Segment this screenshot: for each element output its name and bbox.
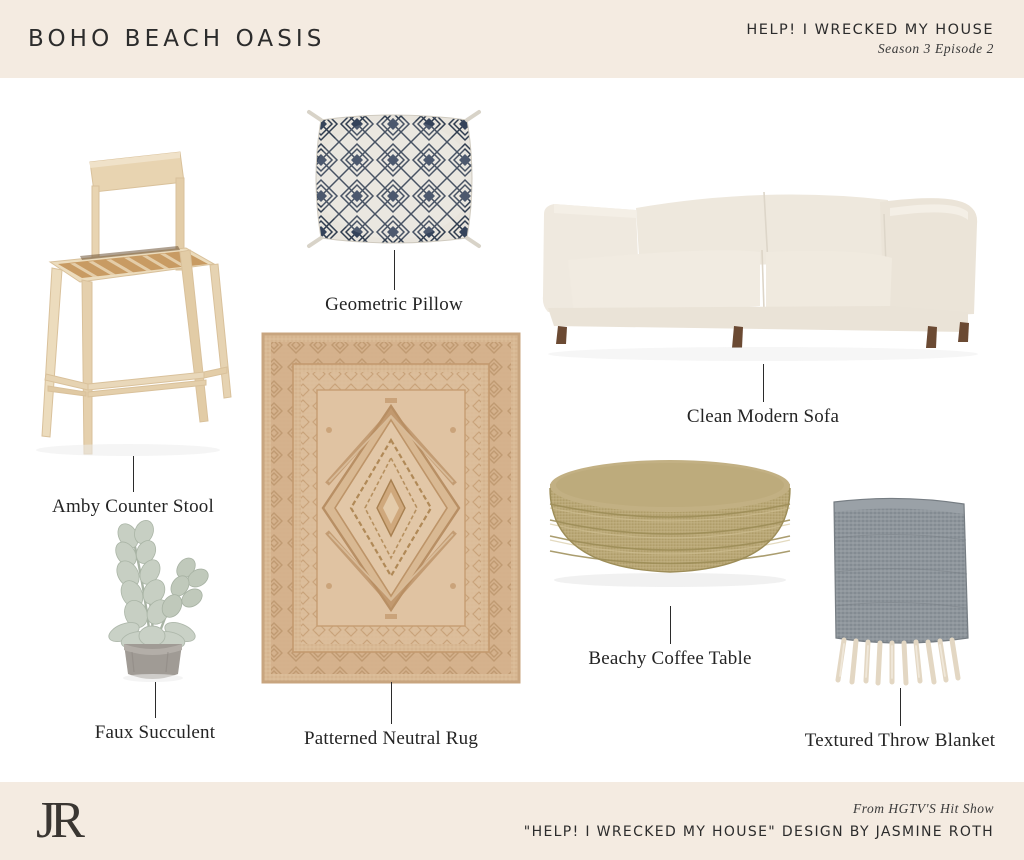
label-faux-succulent: Faux Succulent xyxy=(95,722,215,744)
leader-line-faux-succulent xyxy=(155,682,156,718)
leader-line-clean-modern-sofa xyxy=(763,364,764,402)
page-title: BOHO BEACH OASIS xyxy=(28,26,326,52)
board-footer: JR From HGTV'S Hit Show "HELP! I WRECKED… xyxy=(0,782,1024,860)
moodboard-canvas: Amby Counter Stool xyxy=(0,78,1024,782)
product-amby-counter-stool[interactable]: Amby Counter Stool xyxy=(28,136,238,456)
footer-from-line: From HGTV'S Hit Show xyxy=(524,799,994,819)
counter-stool-illustration xyxy=(28,136,238,456)
leader-line-patterned-neutral-rug xyxy=(391,682,392,724)
jr-monogram-logo: JR xyxy=(28,795,79,847)
label-clean-modern-sofa: Clean Modern Sofa xyxy=(687,406,839,428)
label-textured-throw-blanket: Textured Throw Blanket xyxy=(805,730,996,752)
rug-illustration xyxy=(263,334,519,682)
geometric-pillow-illustration xyxy=(303,106,485,254)
coffee-table-illustration xyxy=(536,456,804,608)
label-patterned-neutral-rug: Patterned Neutral Rug xyxy=(304,728,478,750)
footer-credit-line: "HELP! I WRECKED MY HOUSE" DESIGN BY JAS… xyxy=(524,822,994,843)
product-beachy-coffee-table[interactable]: Beachy Coffee Table xyxy=(536,456,804,608)
show-name: HELP! I WRECKED MY HOUSE xyxy=(746,21,994,39)
footer-credit-block: From HGTV'S Hit Show "HELP! I WRECKED MY… xyxy=(524,799,994,843)
product-geometric-pillow[interactable]: Geometric Pillow xyxy=(303,106,485,254)
sofa-illustration xyxy=(528,166,998,366)
product-faux-succulent[interactable]: Faux Succulent xyxy=(62,486,248,686)
label-beachy-coffee-table: Beachy Coffee Table xyxy=(588,648,751,670)
show-info: HELP! I WRECKED MY HOUSE Season 3 Episod… xyxy=(746,21,994,58)
throw-blanket-illustration xyxy=(806,490,994,698)
product-clean-modern-sofa[interactable]: Clean Modern Sofa xyxy=(528,166,998,366)
product-textured-throw-blanket[interactable]: Textured Throw Blanket xyxy=(806,490,994,698)
leader-line-textured-throw-blanket xyxy=(900,688,901,726)
show-episode: Season 3 Episode 2 xyxy=(746,41,994,58)
leader-line-geometric-pillow xyxy=(394,250,395,290)
label-geometric-pillow: Geometric Pillow xyxy=(325,294,463,316)
board-header: BOHO BEACH OASIS HELP! I WRECKED MY HOUS… xyxy=(0,0,1024,78)
faux-succulent-illustration xyxy=(62,486,248,686)
product-patterned-neutral-rug[interactable]: Patterned Neutral Rug xyxy=(263,334,519,682)
leader-line-beachy-coffee-table xyxy=(670,606,671,644)
